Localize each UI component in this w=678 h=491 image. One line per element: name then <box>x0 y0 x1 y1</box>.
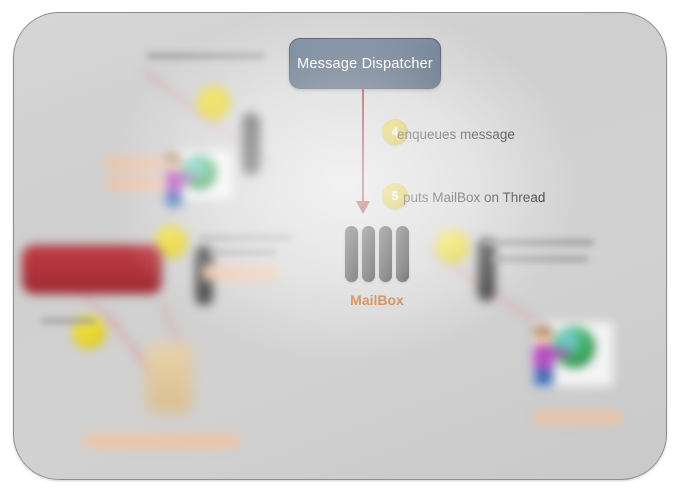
message-dispatcher-label: Message Dispatcher <box>297 56 433 72</box>
step-label-5: puts MailBox on Thread <box>403 190 545 205</box>
screenshot-root: Message Dispatcher 4 enqueues message 5 … <box>0 0 678 491</box>
mailbox-bar-1 <box>345 226 358 282</box>
mailbox-bar-4 <box>396 226 409 282</box>
focus-layer: Message Dispatcher 4 enqueues message 5 … <box>14 13 666 479</box>
message-dispatcher-box[interactable]: Message Dispatcher <box>289 38 441 89</box>
mailbox-label: MailBox <box>334 292 420 308</box>
mailbox-bar-2 <box>362 226 375 282</box>
mailbox-bar-3 <box>379 226 392 282</box>
step-label-4: enqueues message <box>397 127 515 142</box>
step-badge-5-number: 5 <box>392 189 399 203</box>
presentation-slide: Message Dispatcher 4 enqueues message 5 … <box>13 12 667 480</box>
flow-arrow-head-icon <box>356 201 370 214</box>
flow-arrow-line <box>362 88 364 204</box>
mailbox-queue-icon <box>345 226 409 282</box>
